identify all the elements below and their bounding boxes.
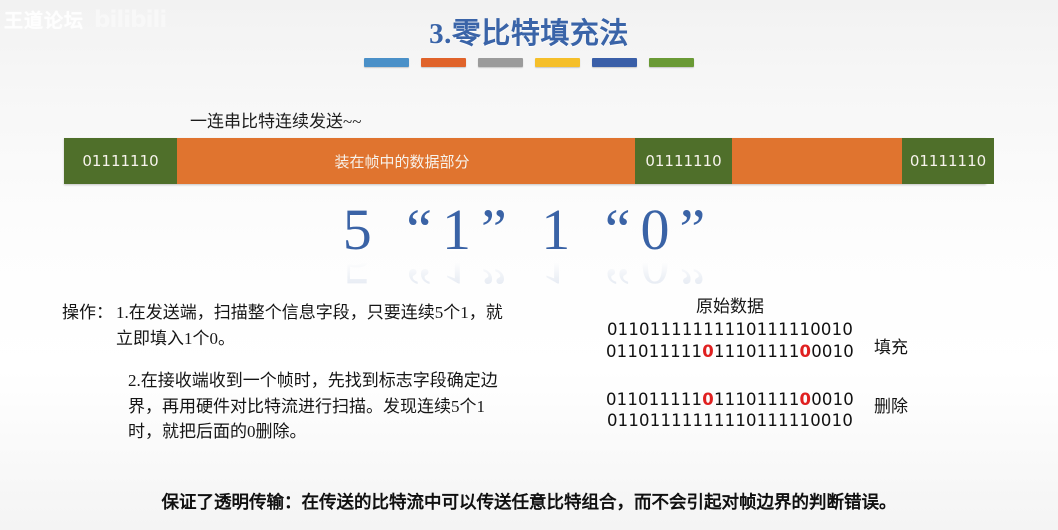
bar-green xyxy=(649,58,694,67)
operation-item-1: 操作： 1.在发送端，扫描整个信息字段，只要连续5个1，就立即填入1个0。 xyxy=(62,300,512,351)
bit-run: 011011111 xyxy=(606,342,702,361)
slide-root: 王道论坛 bilibili 3.零比特填充法 一连串比特连续发送~~ 01111… xyxy=(0,0,1058,530)
bit-run: 11101111 xyxy=(714,342,800,361)
operation-text-2: 2.在接收端收到一个帧时，先找到标志字段确定边界，再用硬件对比特流进行扫描。发现… xyxy=(128,371,498,441)
bit-run: 011011111 xyxy=(606,390,702,409)
frame-data-segment: 装在帧中的数据部分 xyxy=(177,138,635,184)
frame-bar: 01111110装在帧中的数据部分0111111001111110 xyxy=(64,138,986,184)
bit-run: 01101111111110111110010 xyxy=(607,320,853,339)
stuffed-bit: 0 xyxy=(800,342,812,361)
bit-lines-gap xyxy=(520,363,940,389)
operation-item-2: 2.在接收端收到一个帧时，先找到标志字段确定边界，再用硬件对比特流进行扫描。发现… xyxy=(62,368,512,445)
stuffed-bit: 0 xyxy=(702,390,714,409)
conclusion-text: 保证了透明传输：在传送的比特流中可以传送任意比特组合，而不会引起对帧边界的判断错… xyxy=(0,489,1058,514)
bit-strings-title: 原始数据 xyxy=(520,292,940,317)
operations-block: 操作： 1.在发送端，扫描整个信息字段，只要连续5个1，就立即填入1个0。 2.… xyxy=(62,300,512,445)
frame-flag-segment: 01111110 xyxy=(635,138,732,184)
bar-gray xyxy=(478,58,523,67)
bit-run: 11101111 xyxy=(714,390,800,409)
bar-navy xyxy=(592,58,637,67)
operation-text-1: 1.在发送端，扫描整个信息字段，只要连续5个1，就立即填入1个0。 xyxy=(116,300,512,351)
page-title: 3.零比特填充法 xyxy=(0,10,1058,52)
send-stream-label: 一连串比特连续发送~~ xyxy=(190,107,361,132)
bit-stuffing-rule: 5 “1” 1 “0” xyxy=(0,196,1058,263)
stuffed-bit: 0 xyxy=(800,390,812,409)
operations-label: 操作： xyxy=(62,300,116,326)
bit-run: 0010 xyxy=(811,342,854,361)
frame-data-segment xyxy=(732,138,902,184)
bar-blue xyxy=(364,58,409,67)
bar-yellow xyxy=(535,58,580,67)
bit-run: 0010 xyxy=(811,390,854,409)
bar-orange xyxy=(421,58,466,67)
bit-run: 01101111111110111110010 xyxy=(607,411,853,430)
label-delete: 删除 xyxy=(874,392,908,417)
frame-flag-segment: 01111110 xyxy=(902,138,994,184)
stuffed-bit: 0 xyxy=(702,342,714,361)
frame-flag-segment: 01111110 xyxy=(64,138,177,184)
label-fill: 填充 xyxy=(874,333,908,358)
accent-bar-group xyxy=(364,58,694,67)
